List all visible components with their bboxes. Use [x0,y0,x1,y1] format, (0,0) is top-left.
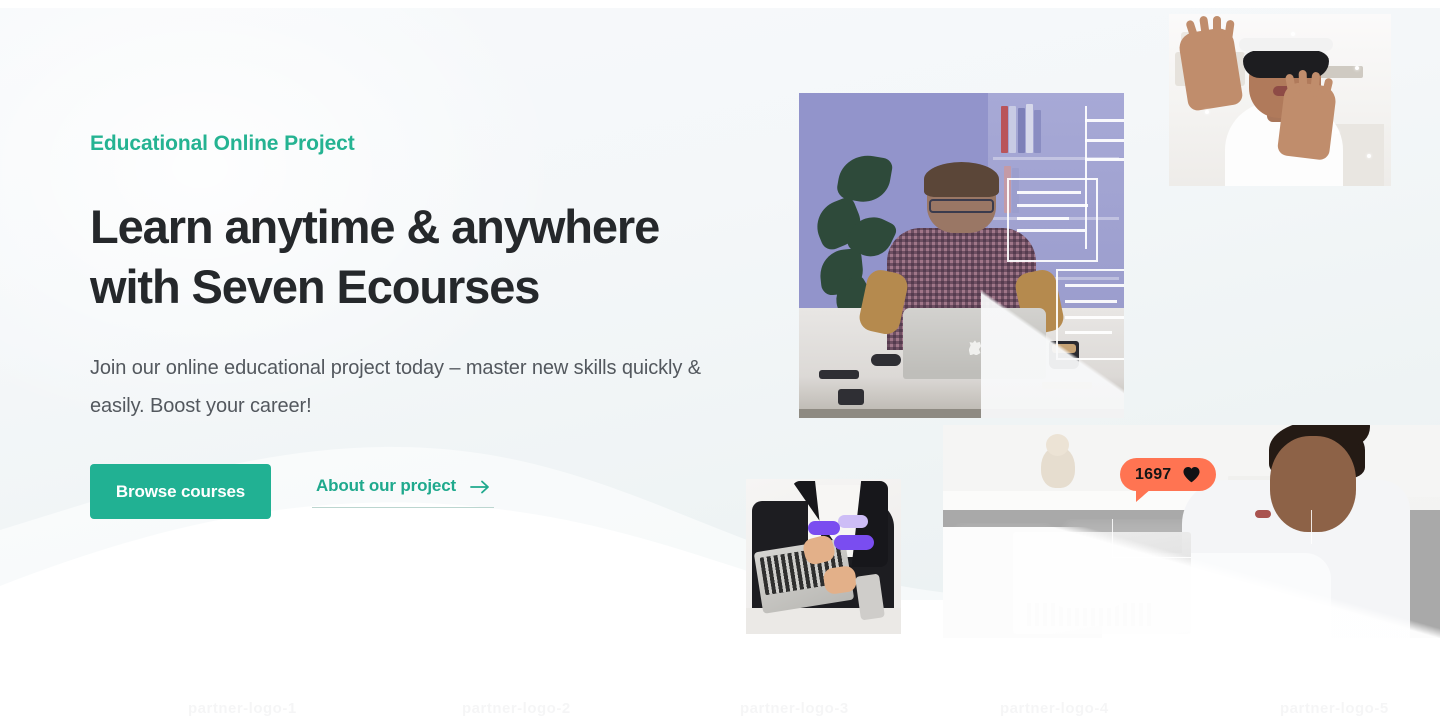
couch-person-lips [1255,510,1271,518]
hero-subcopy: Join our online educational project toda… [90,349,710,425]
couch-photo-corner-fold [943,527,1440,638]
hero-cta-row: Browse courses About our project [90,464,730,519]
page-top-strip [0,0,1440,8]
desk-laptop-photo[interactable] [799,93,1124,418]
sparkle-icon [1205,110,1209,114]
vr-headset-photo[interactable] [1169,14,1391,186]
sparkle-icon [1355,66,1359,70]
vr-finger [1213,16,1221,44]
desk-photo-corner-fold [981,288,1124,418]
vr-finger [1299,70,1308,96]
lap-laptop-photo[interactable] [746,479,901,634]
wireframe-line [1085,139,1124,142]
desk-object [871,354,901,366]
like-count-value: 1697 [1135,466,1171,484]
landing-page: Educational Online Project Learn anytime… [0,0,1440,720]
chat-bubble-shape [834,535,874,550]
vr-goggles-strap [1239,38,1333,51]
chat-bubble-shape [838,515,868,528]
wireframe-line [1085,158,1124,161]
partner-logo-strip: partner-logo-1 partner-logo-2 partner-lo… [0,692,1440,720]
couch-person-head [1270,436,1356,532]
decor-vase [1046,434,1069,456]
partner-logo: partner-logo-2 [462,700,571,718]
wireframe-rule [1085,106,1087,249]
partner-logo: partner-logo-1 [188,700,297,718]
desk-object [838,389,864,405]
sparkle-icon [1367,154,1371,158]
partner-logo: partner-logo-5 [1280,700,1389,718]
page-title: Learn anytime & anywhere with Seven Ecou… [90,197,710,317]
about-our-project-link[interactable]: About our project [312,476,494,508]
browse-courses-button[interactable]: Browse courses [90,464,271,519]
sparkle-icon [1291,32,1295,36]
apple-logo-icon [969,340,982,355]
couch-laptop-photo[interactable] [943,425,1440,638]
wireframe-line [1085,119,1124,122]
partner-logo: partner-logo-4 [1000,700,1109,718]
chat-bubble-shape [808,521,840,535]
arrow-right-icon [470,479,490,493]
hero-copy-column: Educational Online Project Learn anytime… [90,130,730,519]
about-our-project-label: About our project [316,476,456,496]
hero-eyebrow: Educational Online Project [90,130,730,158]
sparkle-icon [1335,130,1339,134]
like-count-badge[interactable]: 1697 [1120,458,1216,491]
heart-icon [1182,466,1201,483]
partner-logo: partner-logo-3 [740,700,849,718]
desk-object [819,370,859,379]
